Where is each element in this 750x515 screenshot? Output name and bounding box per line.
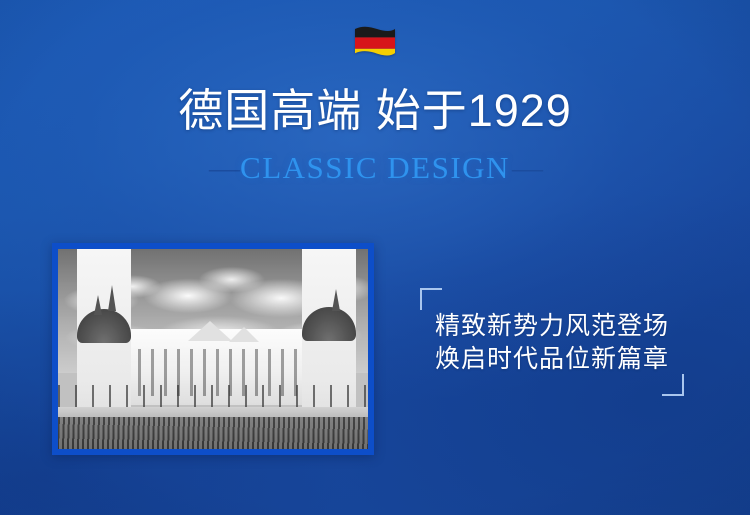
slogan-line-1: 精致新势力风范登场 [418, 310, 686, 343]
promo-banner: 德国高端 始于1929 —CLASSIC DESIGN— 精 [0, 0, 750, 515]
photo-spire-b [94, 295, 102, 315]
title-text: 德国高端 始于1929 [178, 85, 572, 136]
photo-water [58, 417, 368, 449]
flag-container [0, 26, 750, 60]
photo-spire-a [108, 285, 116, 311]
bracket-top-left-icon [420, 288, 442, 310]
bracket-bottom-right-icon [662, 374, 684, 396]
subtitle-text: CLASSIC DESIGN [240, 150, 510, 185]
moritzburg-castle-photo [58, 249, 368, 449]
subtitle-rule-left: — [207, 150, 240, 185]
subtitle-rule-right: — [510, 150, 543, 185]
photo-frame [52, 243, 374, 455]
photo-gable-secondary [229, 327, 259, 342]
slogan-line-2: 焕启时代品位新篇章 [418, 343, 686, 376]
slogan-block: 精致新势力风范登场 焕启时代品位新篇章 [418, 288, 686, 396]
slogan-lines: 精致新势力风范登场 焕启时代品位新篇章 [418, 310, 686, 376]
photo-gable-center [188, 321, 232, 341]
photo-spire-c [332, 289, 340, 311]
subtitle: —CLASSIC DESIGN— [0, 152, 750, 183]
page-title: 德国高端 始于1929 [0, 88, 750, 133]
german-flag-icon [353, 26, 397, 60]
